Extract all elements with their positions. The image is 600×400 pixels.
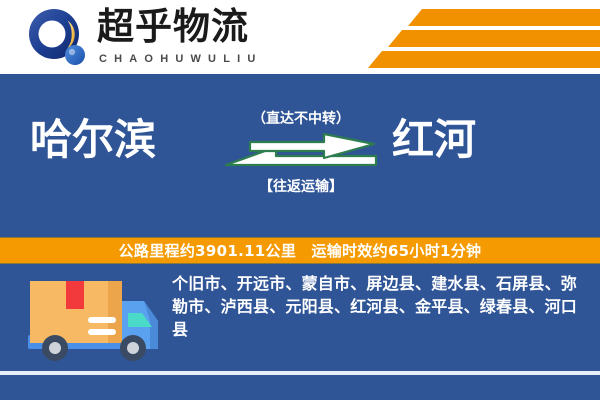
road-line — [0, 371, 600, 375]
double-headed-arrow-icon — [224, 133, 378, 175]
brand-name-en: CHAOHUWULIU — [99, 53, 263, 65]
route-section: 哈尔滨 （直达不中转） 【往返运输】 红河 — [0, 74, 600, 237]
delivery-truck-icon — [22, 275, 162, 371]
roundtrip-note: 【往返运输】 — [226, 176, 376, 196]
coverage-area-list: 个旧市、开远市、蒙自市、屏边县、建水县、石屏县、弥勒市、泸西县、元阳县、红河县、… — [172, 272, 584, 341]
stripe-1 — [408, 9, 600, 26]
destination-city: 红河 — [392, 112, 476, 168]
direct-shipping-note: （直达不中转） — [226, 108, 376, 128]
brand-name-cn: 超乎物流 — [97, 5, 249, 49]
stripe-3 — [368, 51, 600, 68]
banner-header: 超乎物流 CHAOHUWULIU — [0, 0, 600, 74]
q-circle-logo-icon — [27, 7, 89, 69]
origin-city: 哈尔滨 — [30, 112, 156, 168]
route-middle: （直达不中转） 【往返运输】 — [226, 108, 376, 208]
brand-logo: 超乎物流 CHAOHUWULIU — [27, 7, 295, 69]
logistics-route-banner: 超乎物流 CHAOHUWULIU 哈尔滨 （直达不中转） 【往返运输】 红河 — [0, 0, 600, 400]
distance-duration-text: 公路里程约3901.11公里 运输时效约65小时1分钟 — [119, 240, 482, 261]
orange-stripes-icon — [300, 0, 600, 74]
stripe-2 — [388, 30, 600, 47]
distance-duration-bar: 公路里程约3901.11公里 运输时效约65小时1分钟 — [0, 237, 600, 264]
coverage-section: 个旧市、开远市、蒙自市、屏边县、建水县、石屏县、弥勒市、泸西县、元阳县、红河县、… — [0, 264, 600, 400]
